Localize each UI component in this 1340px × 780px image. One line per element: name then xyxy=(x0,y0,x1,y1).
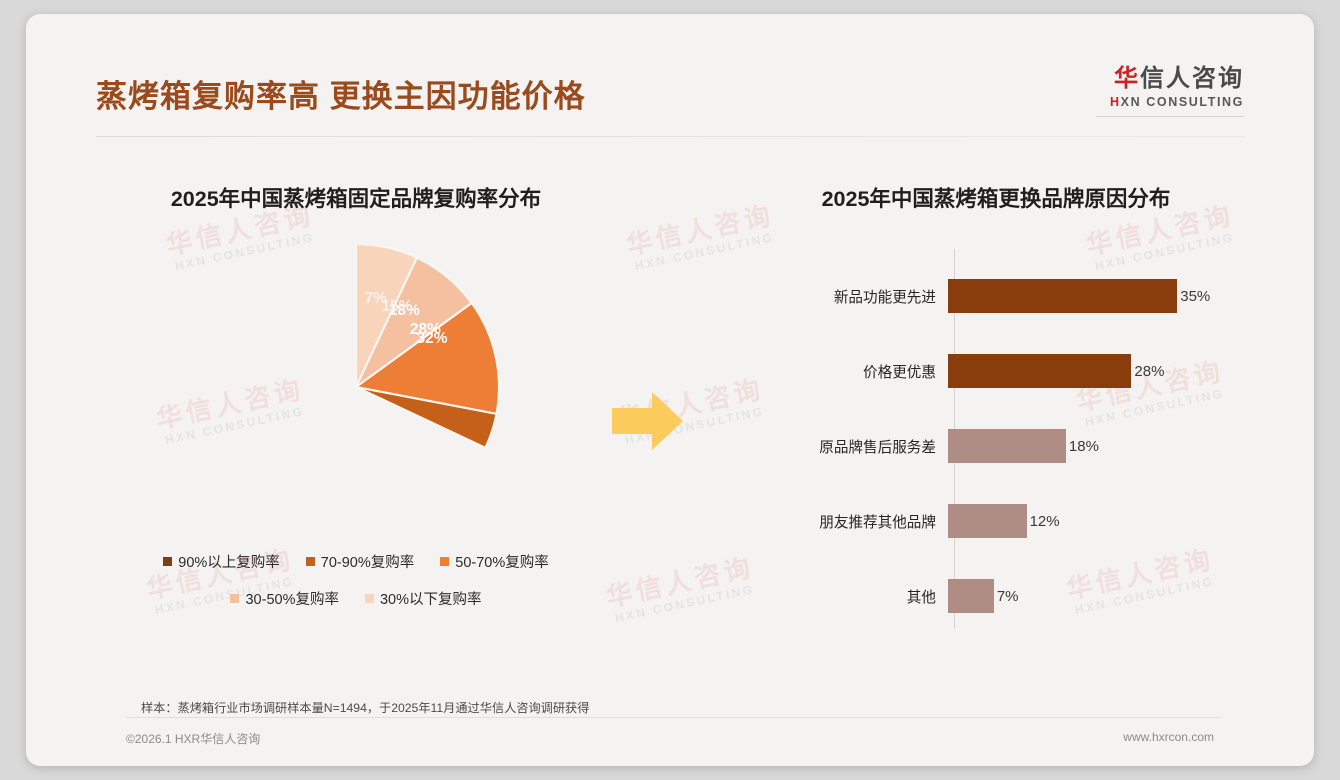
header-divider xyxy=(96,136,1246,137)
bar-chart-row: 朋友推荐其他品牌12% xyxy=(726,504,1266,538)
brand-logo: 华信人咨询 HXN CONSULTING xyxy=(1096,66,1244,117)
bar-chart-row: 其他7% xyxy=(726,579,1266,613)
bar-track: 28% xyxy=(948,354,1266,388)
bar-chart-panel: 2025年中国蒸烤箱更换品牌原因分布 新品功能更先进35%价格更优惠28%原品牌… xyxy=(726,182,1266,652)
bar-chart-row: 价格更优惠28% xyxy=(726,354,1266,388)
logo-en-h: H xyxy=(1110,95,1121,109)
legend-swatch-icon xyxy=(163,557,172,566)
bar-value-label: 7% xyxy=(997,588,1019,605)
bar-category-label: 价格更优惠 xyxy=(726,361,948,382)
legend-label: 30-50%复购率 xyxy=(245,588,338,609)
legend-swatch-icon xyxy=(230,594,239,603)
bar-category-label: 其他 xyxy=(726,586,948,607)
legend-label: 50-70%复购率 xyxy=(455,551,548,572)
pie-svg xyxy=(206,237,506,537)
website-text: www.hxrcon.com xyxy=(1123,730,1214,744)
logo-en-rest: XN CONSULTING xyxy=(1121,95,1244,109)
pie-chart-plot: 18%32%28%15%7% xyxy=(86,237,626,537)
pie-chart-title: 2025年中国蒸烤箱固定品牌复购率分布 xyxy=(86,182,626,213)
pie-legend: 90%以上复购率70-90%复购率50-70%复购率30-50%复购率30%以下… xyxy=(86,551,626,625)
bar-value-label: 28% xyxy=(1134,363,1164,380)
logo-underline xyxy=(1096,116,1244,117)
bar-chart-plot: 新品功能更先进35%价格更优惠28%原品牌售后服务差18%朋友推荐其他品牌12%… xyxy=(726,249,1266,629)
logo-chinese: 华信人咨询 xyxy=(1096,66,1244,91)
bar-chart-row: 新品功能更先进35% xyxy=(726,279,1266,313)
bar-chart-row: 原品牌售后服务差18% xyxy=(726,429,1266,463)
bar-fill[interactable] xyxy=(948,354,1131,388)
bar-category-label: 朋友推荐其他品牌 xyxy=(726,511,948,532)
bar-track: 35% xyxy=(948,279,1266,313)
bar-track: 18% xyxy=(948,429,1266,463)
legend-swatch-icon xyxy=(365,594,374,603)
pie-chart-panel: 2025年中国蒸烤箱固定品牌复购率分布 18%32%28%15%7% 90%以上… xyxy=(86,182,626,652)
bar-fill[interactable] xyxy=(948,579,994,613)
logo-chars-rest: 信人咨询 xyxy=(1140,65,1244,92)
legend-item[interactable]: 90%以上复购率 xyxy=(163,551,280,572)
bar-fill[interactable] xyxy=(948,279,1177,313)
right-arrow-icon xyxy=(612,390,684,457)
slide-footer: ©2026.1 HXR华信人咨询 www.hxrcon.com xyxy=(26,730,1314,766)
legend-label: 90%以上复购率 xyxy=(178,551,280,572)
slide-header: 蒸烤箱复购率高 更换主因功能价格 华信人咨询 HXN CONSULTING xyxy=(26,14,1314,132)
legend-item[interactable]: 30-50%复购率 xyxy=(230,588,338,609)
bar-fill[interactable] xyxy=(948,429,1066,463)
legend-item[interactable]: 30%以下复购率 xyxy=(365,588,482,609)
bar-value-label: 18% xyxy=(1069,438,1099,455)
slide-canvas: 华信人咨询 HXN CONSULTING 华信人咨询 HXN CONSULTIN… xyxy=(26,14,1314,766)
bar-track: 12% xyxy=(948,504,1266,538)
logo-char-hua: 华 xyxy=(1114,65,1140,92)
logo-english: HXN CONSULTING xyxy=(1096,95,1244,109)
bar-category-label: 新品功能更先进 xyxy=(726,286,948,307)
legend-label: 30%以下复购率 xyxy=(380,588,482,609)
legend-label: 70-90%复购率 xyxy=(321,551,414,572)
copyright-text: ©2026.1 HXR华信人咨询 xyxy=(126,730,260,747)
bar-fill[interactable] xyxy=(948,504,1027,538)
bar-category-label: 原品牌售后服务差 xyxy=(726,436,948,457)
legend-item[interactable]: 50-70%复购率 xyxy=(440,551,548,572)
legend-item[interactable]: 70-90%复购率 xyxy=(306,551,414,572)
source-footnote: 样本：蒸烤箱行业市场调研样本量N=1494，于2025年11月通过华信人咨询调研… xyxy=(141,698,589,716)
bar-value-label: 35% xyxy=(1180,288,1210,305)
bar-chart-title: 2025年中国蒸烤箱更换品牌原因分布 xyxy=(726,182,1266,213)
right-arrow-svg xyxy=(612,390,684,452)
legend-swatch-icon xyxy=(306,557,315,566)
bar-track: 7% xyxy=(948,579,1266,613)
footnote-divider xyxy=(126,717,1221,718)
bar-value-label: 12% xyxy=(1030,513,1060,530)
page-title: 蒸烤箱复购率高 更换主因功能价格 xyxy=(96,71,586,116)
legend-swatch-icon xyxy=(440,557,449,566)
